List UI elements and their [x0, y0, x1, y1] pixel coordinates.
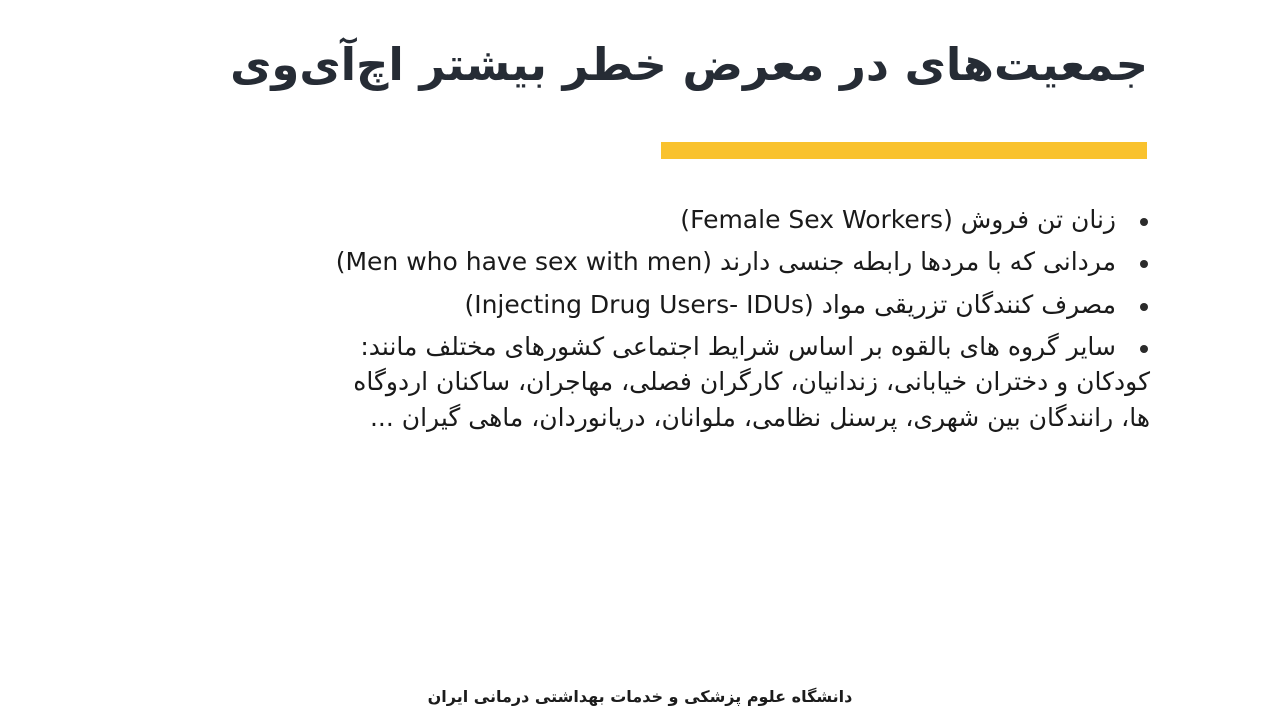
list-item: مصرف کنندگان تزریقی مواد (Injecting Drug…	[160, 288, 1150, 322]
list-item: مردانی که با مردها رابطه جنسی دارند (Men…	[160, 245, 1150, 279]
list-item-continuation-line: ها، رانندگان بین شهری، پرسنل نظامی، ملوا…	[160, 400, 1150, 436]
bullet-point-icon	[1140, 345, 1148, 353]
list-item: سایر گروه های بالقوه بر اساس شرایط اجتما…	[160, 330, 1150, 435]
list-item: زنان تن فروش (Female Sex Workers)	[160, 203, 1150, 237]
bullet-point-icon	[1140, 260, 1148, 268]
slide-footer: دانشگاه علوم پزشکی و خدمات بهداشتی درمان…	[0, 687, 1280, 706]
bullet-point-icon	[1140, 303, 1148, 311]
slide-canvas: جمعیت‌های در معرض خطر بیشتر اچ‌آی‌وی زنا…	[0, 0, 1280, 720]
bullet-list: زنان تن فروش (Female Sex Workers) مردانی…	[160, 203, 1150, 443]
list-item-label: مردانی که با مردها رابطه جنسی دارند (Men…	[160, 245, 1116, 279]
list-item-label: سایر گروه های بالقوه بر اساس شرایط اجتما…	[160, 330, 1116, 364]
bullet-point-icon	[1140, 218, 1148, 226]
list-item-label: مصرف کنندگان تزریقی مواد (Injecting Drug…	[160, 288, 1116, 322]
title-accent-bar	[661, 142, 1147, 159]
footer-organization-label: دانشگاه علوم پزشکی و خدمات بهداشتی درمان…	[428, 687, 853, 706]
list-item-label: زنان تن فروش (Female Sex Workers)	[160, 203, 1116, 237]
page-title: جمعیت‌های در معرض خطر بیشتر اچ‌آی‌وی	[132, 38, 1148, 91]
list-item-continuation-line: کودکان و دختران خیابانی، زندانیان، کارگر…	[160, 364, 1150, 400]
title-block: جمعیت‌های در معرض خطر بیشتر اچ‌آی‌وی	[132, 38, 1148, 91]
